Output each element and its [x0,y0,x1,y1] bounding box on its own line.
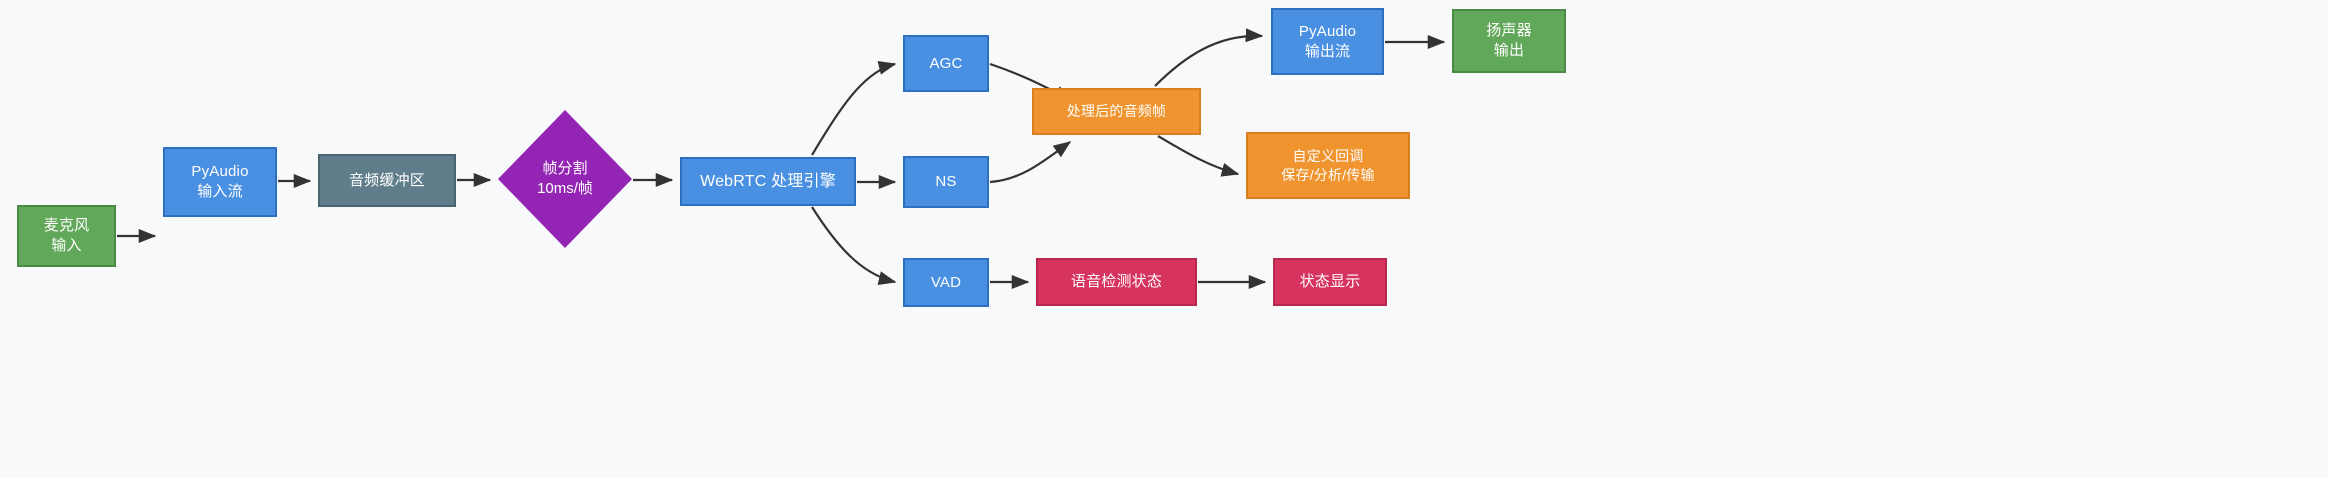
flowchart-canvas: 麦克风输入PyAudio输入流音频缓冲区帧分割10ms/帧WebRTC 处理引擎… [0,0,2328,478]
node-agc[interactable]: AGC [903,35,989,92]
node-label-line-speaker-output-1: 输出 [1494,41,1524,61]
node-label-line-webrtc-engine-0: WebRTC 处理引擎 [700,171,836,192]
node-label-line-frame-split-0: 帧分割 [542,159,587,179]
node-vad[interactable]: VAD [903,258,989,307]
node-label-line-pyaudio-input-stream-0: PyAudio [191,162,248,182]
node-label-line-processed-audio-frames-0: 处理后的音频帧 [1067,102,1166,120]
node-label-line-audio-buffer-0: 音频缓冲区 [349,171,425,191]
node-custom-callback[interactable]: 自定义回调保存/分析/传输 [1246,132,1410,199]
node-label-frame-split: 帧分割10ms/帧 [498,110,632,248]
edge-layer [0,0,2328,478]
edge-webrtc-to-agc [812,64,895,155]
node-label-line-custom-callback-0: 自定义回调 [1293,147,1364,165]
edge-ns-to-processed [990,142,1070,182]
node-speaker-output[interactable]: 扬声器输出 [1452,9,1566,73]
edge-processed-to-callback [1158,136,1238,174]
node-label-line-vad-0: VAD [931,273,961,293]
node-mic-input[interactable]: 麦克风输入 [17,205,116,267]
node-label-line-speaker-output-0: 扬声器 [1486,21,1532,41]
node-label-line-pyaudio-input-stream-1: 输入流 [197,182,243,202]
node-label-line-speech-detect-state-0: 语音检测状态 [1071,272,1162,292]
node-pyaudio-input-stream[interactable]: PyAudio输入流 [163,147,277,217]
node-frame-split[interactable]: 帧分割10ms/帧 [498,110,632,248]
node-speech-detect-state[interactable]: 语音检测状态 [1036,258,1197,306]
edge-webrtc-to-vad [812,207,895,282]
node-pyaudio-output-stream[interactable]: PyAudio输出流 [1271,8,1384,75]
node-label-line-mic-input-0: 麦克风 [44,216,90,236]
node-label-line-frame-split-1: 10ms/帧 [537,179,593,199]
node-label-line-pyaudio-output-stream-0: PyAudio [1299,22,1356,42]
node-label-line-state-display-0: 状态显示 [1300,272,1361,292]
node-webrtc-engine[interactable]: WebRTC 处理引擎 [680,157,856,206]
node-label-line-pyaudio-output-stream-1: 输出流 [1305,42,1351,62]
node-label-line-ns-0: NS [935,172,956,192]
edge-processed-to-out [1155,36,1262,86]
node-label-line-agc-0: AGC [929,54,962,74]
node-label-line-mic-input-1: 输入 [51,236,81,256]
node-ns[interactable]: NS [903,156,989,208]
node-processed-audio-frames[interactable]: 处理后的音频帧 [1032,88,1201,135]
node-label-line-custom-callback-1: 保存/分析/传输 [1281,166,1374,184]
node-audio-buffer[interactable]: 音频缓冲区 [318,154,456,207]
node-state-display[interactable]: 状态显示 [1273,258,1387,306]
